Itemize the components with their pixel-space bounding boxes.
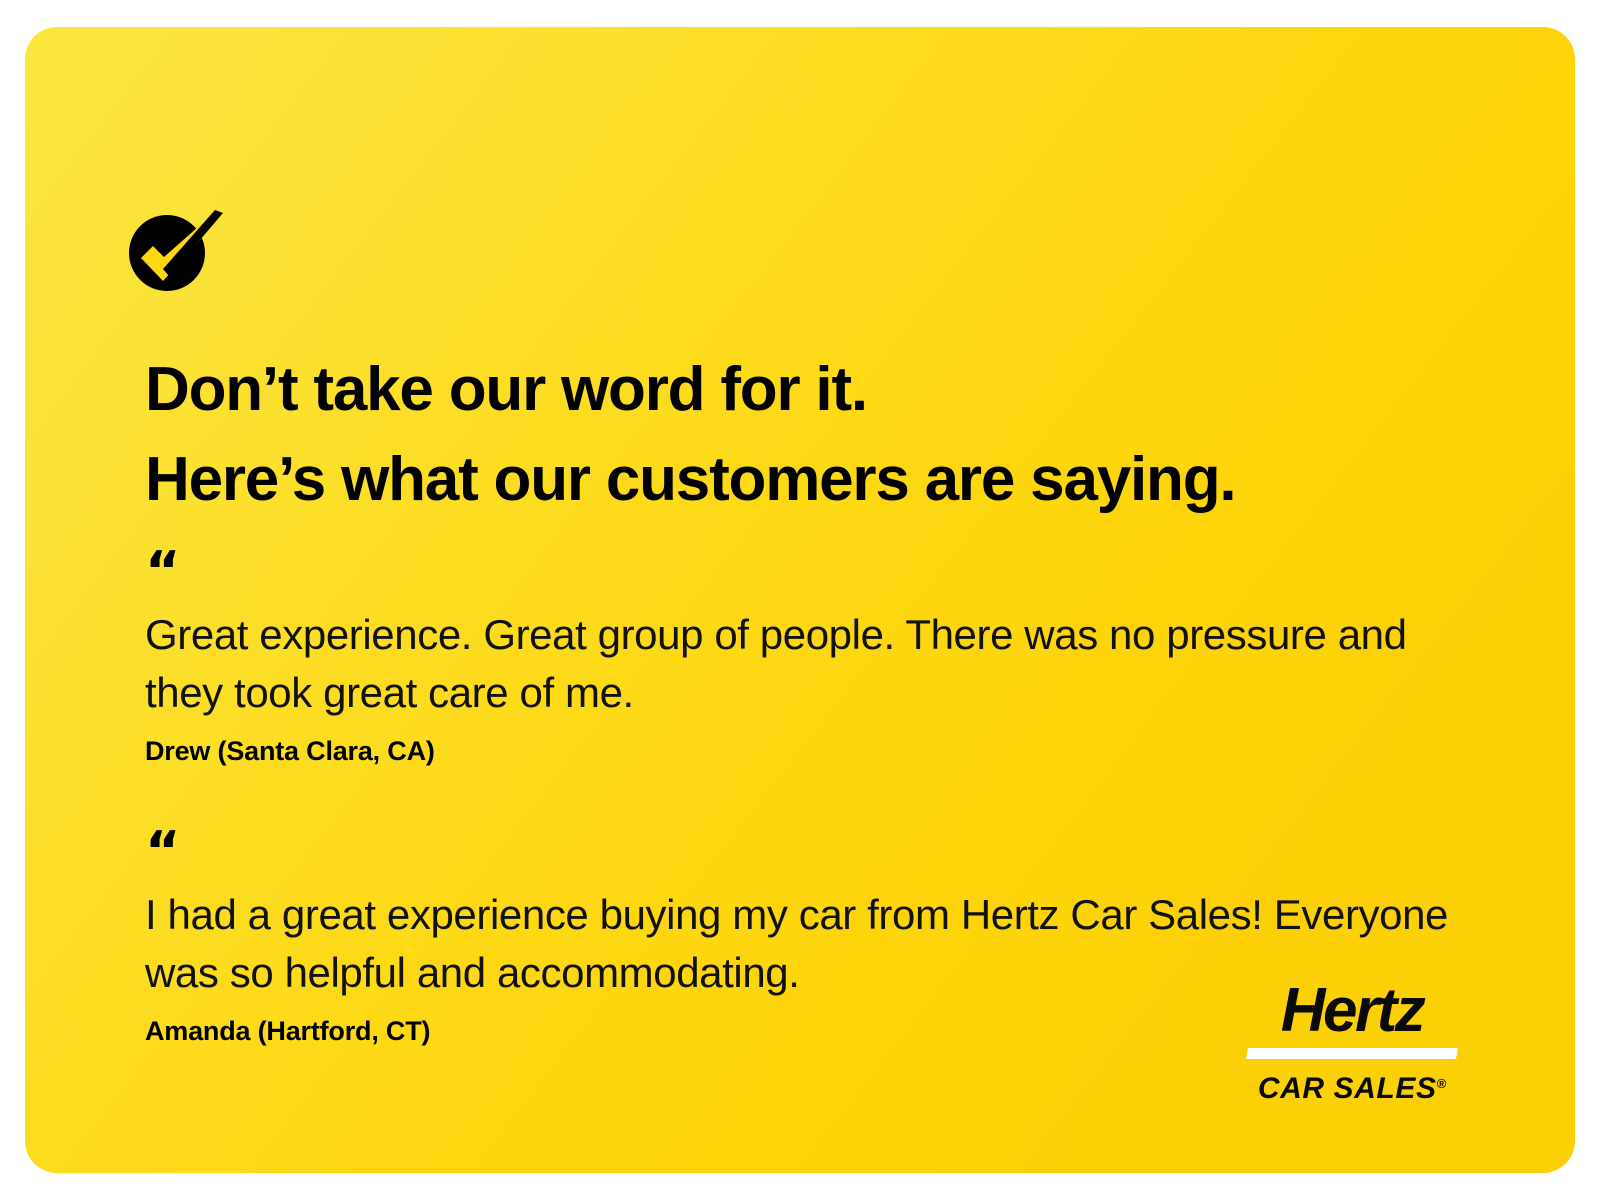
promo-card: Don’t take our word for it. Here’s what … xyxy=(25,27,1575,1173)
headline-line-1: Don’t take our word for it. xyxy=(145,345,1485,435)
logo-underline-bar xyxy=(1246,1048,1458,1059)
testimonial-attribution: Drew (Santa Clara, CA) xyxy=(145,734,1485,768)
logo-subtitle-text: CAR SALES xyxy=(1258,1072,1437,1105)
testimonial-item: “ Great experience. Great group of peopl… xyxy=(145,554,1485,768)
testimonial-list: “ Great experience. Great group of peopl… xyxy=(145,554,1485,1048)
registered-trademark-icon: ® xyxy=(1437,1076,1447,1091)
hertz-wordmark: Hertz xyxy=(1247,980,1457,1042)
testimonial-quote: Great experience. Great group of people.… xyxy=(145,606,1465,722)
check-circle-icon xyxy=(123,205,253,315)
page-title: Don’t take our word for it. Here’s what … xyxy=(145,345,1485,525)
quote-mark-icon: “ xyxy=(145,554,1485,590)
headline-line-2: Here’s what our customers are saying. xyxy=(145,435,1485,525)
logo-subtitle: CAR SALES® xyxy=(1247,1068,1457,1105)
hertz-car-sales-logo: Hertz CAR SALES® xyxy=(1247,980,1457,1105)
quote-mark-icon: “ xyxy=(145,834,1485,870)
